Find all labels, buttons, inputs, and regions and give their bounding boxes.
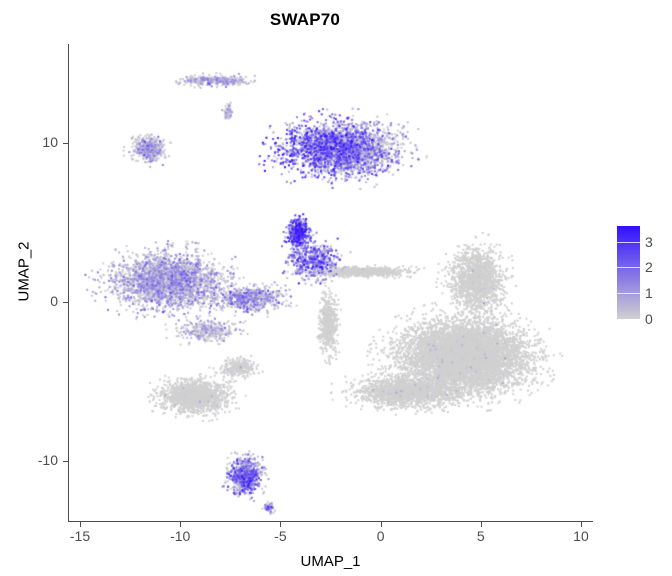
x-axis-label: UMAP_1 xyxy=(68,553,593,570)
x-tick-mark xyxy=(381,522,382,527)
x-tick-mark xyxy=(80,522,81,527)
legend-tick-label: 2 xyxy=(645,260,653,274)
y-tick-mark xyxy=(63,302,68,303)
legend-tick-mark xyxy=(617,293,640,294)
legend-tick-mark xyxy=(617,242,640,243)
x-tick-mark xyxy=(481,522,482,527)
x-tick-label: -15 xyxy=(60,528,100,544)
x-axis-line xyxy=(68,521,593,522)
x-tick-label: 0 xyxy=(361,528,401,544)
x-tick-mark xyxy=(180,522,181,527)
y-axis-label: UMAP_2 xyxy=(16,212,33,332)
x-tick-mark xyxy=(581,522,582,527)
x-tick-mark xyxy=(280,522,281,527)
y-tick-mark xyxy=(63,143,68,144)
legend-tick-label: 3 xyxy=(645,235,653,249)
y-tick-mark xyxy=(63,461,68,462)
umap-feature-plot: SWAP70 -15-10-50510 100-10 UMAP_1 UMAP_2… xyxy=(0,0,672,576)
page-title: SWAP70 xyxy=(0,10,610,30)
legend-tick-label: 0 xyxy=(645,312,653,326)
y-tick-label: 10 xyxy=(18,134,58,150)
legend-tick-label: 1 xyxy=(645,286,653,300)
scatter-plot-canvas xyxy=(68,44,593,522)
y-tick-label: -10 xyxy=(18,452,58,468)
legend-tick-mark xyxy=(617,319,640,320)
legend-tick-mark xyxy=(617,267,640,268)
x-tick-label: -10 xyxy=(160,528,200,544)
legend-colorbar xyxy=(617,226,640,319)
x-tick-label: 5 xyxy=(461,528,501,544)
y-axis-line xyxy=(68,44,69,522)
x-tick-label: 10 xyxy=(561,528,601,544)
x-tick-label: -5 xyxy=(260,528,300,544)
